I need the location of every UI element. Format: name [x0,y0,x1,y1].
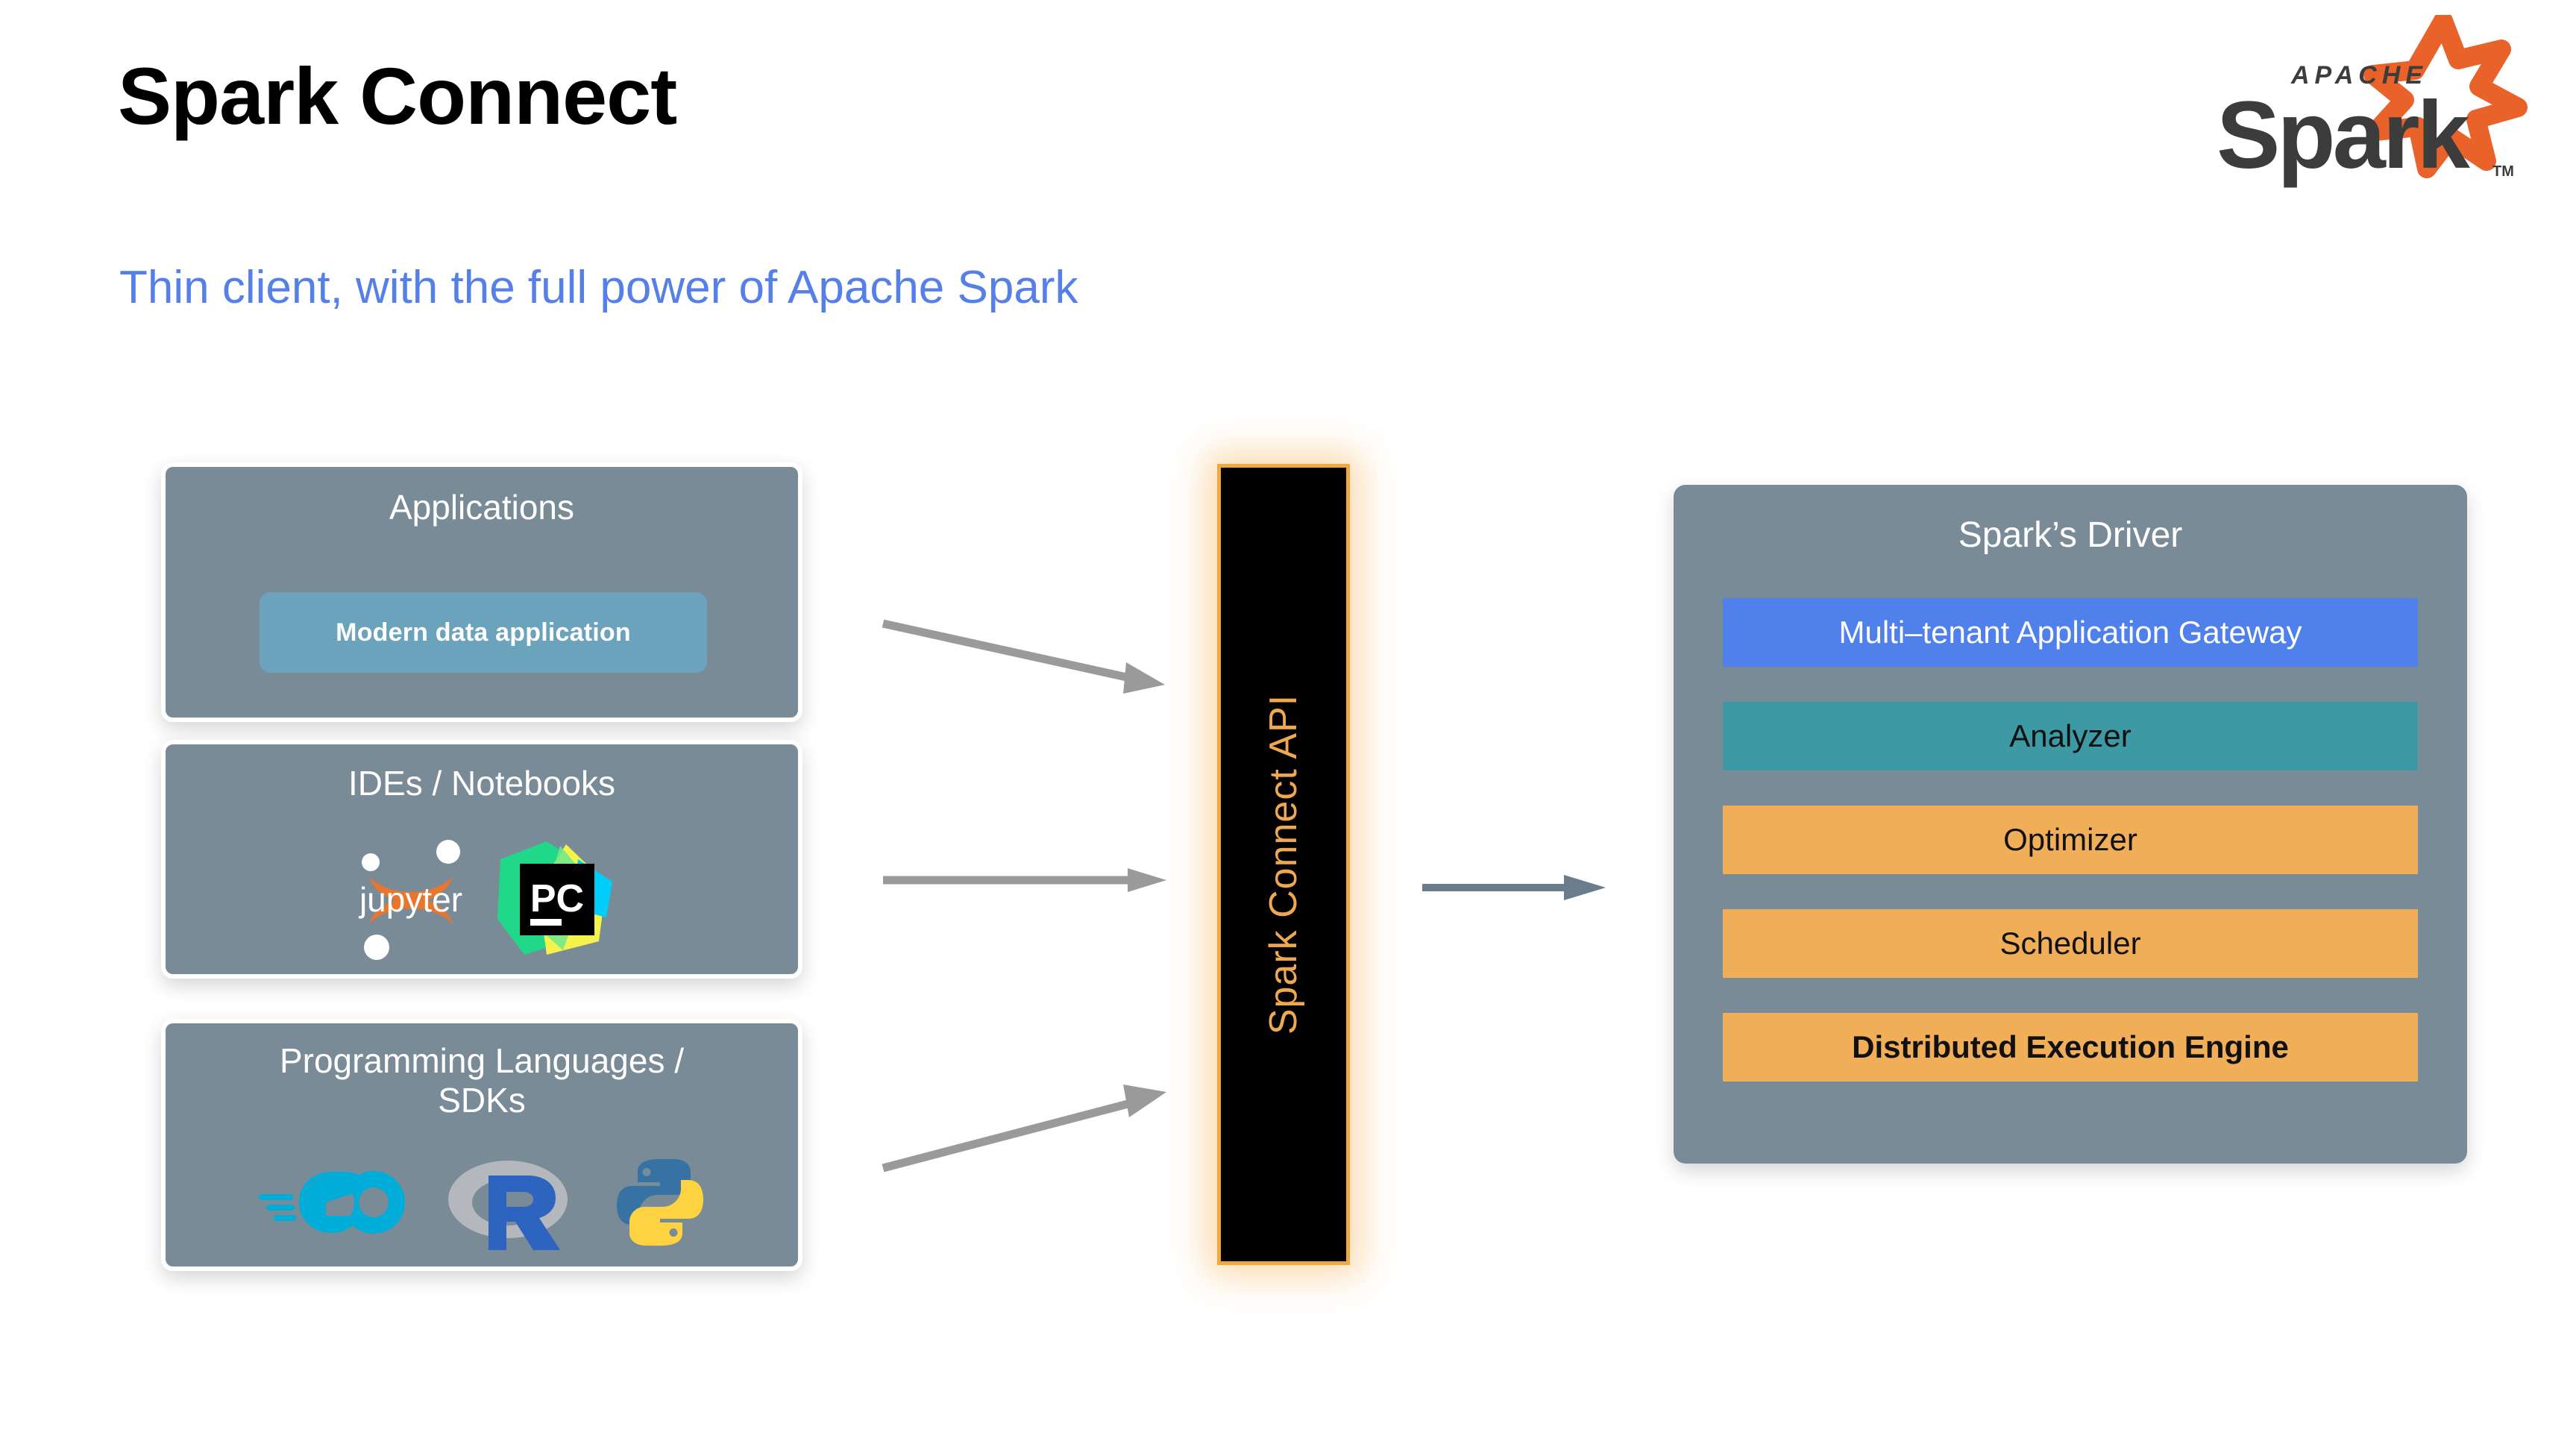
apache-spark-logo: APACHE Spark TM [2181,15,2531,209]
driver-row-optimizer: Optimizer [1723,806,2418,874]
spark-logo-trademark: TM [2492,163,2514,180]
jupyter-logo: jupyter [344,834,478,965]
ide-logo-row: jupyter PC [166,832,798,967]
panel-ides-notebooks: IDEs / Notebooks jupyter PC [161,740,802,979]
page-subtitle: Thin client, with the full power of Apac… [119,261,1078,314]
panel-languages-title-line2: SDKs [166,1081,798,1120]
spark-connect-api-label: Spark Connect API [1261,694,1306,1035]
spark-logo-wordmark: Spark [2217,82,2471,189]
jupyter-wordmark: jupyter [358,880,462,919]
slide-canvas: Spark Connect Thin client, with the full… [0,0,2576,1447]
driver-row-analyzer-label: Analyzer [2009,718,2131,754]
arrow-api-to-driver [1421,873,1615,903]
pycharm-logo: PC [494,837,620,962]
driver-row-execution-engine: Distributed Execution Engine [1723,1013,2418,1082]
python-logo [612,1155,708,1250]
driver-row-scheduler: Scheduler [1723,909,2418,978]
arrow-languages-to-api [880,1074,1178,1178]
driver-row-optimizer-label: Optimizer [2003,822,2137,858]
driver-row-execution-engine-label: Distributed Execution Engine [1852,1029,2289,1065]
driver-row-scheduler-label: Scheduler [1999,926,2140,961]
sparks-driver-title: Spark’s Driver [1674,515,2467,556]
panel-ides-title: IDEs / Notebooks [166,764,798,803]
modern-data-application-chip: Modern data application [260,592,707,673]
panel-sparks-driver: Spark’s Driver Multi–tenant Application … [1674,485,2467,1164]
page-title: Spark Connect [118,52,676,141]
panel-languages-title: Programming Languages / SDKs [166,1041,798,1121]
arrow-applications-to-api [880,619,1178,716]
panel-applications-title: Applications [166,488,798,527]
pycharm-wordmark: PC [530,877,584,920]
driver-row-gateway-label: Multi–tenant Application Gateway [1838,615,2302,650]
language-logo-row: GO R [166,1143,798,1262]
panel-languages-title-line1: Programming Languages / [166,1041,798,1081]
arrow-ides-to-api [880,865,1178,895]
go-logo: GO [256,1161,409,1243]
driver-row-gateway: Multi–tenant Application Gateway [1723,598,2418,667]
driver-row-list: Multi–tenant Application Gateway Analyze… [1723,598,2418,1082]
panel-applications: Applications Modern data application [161,462,802,722]
r-logo: R [445,1150,577,1255]
panel-programming-languages: Programming Languages / SDKs GO [161,1019,802,1271]
spark-connect-api-bar: Spark Connect API [1217,464,1350,1265]
driver-row-analyzer: Analyzer [1723,702,2418,770]
